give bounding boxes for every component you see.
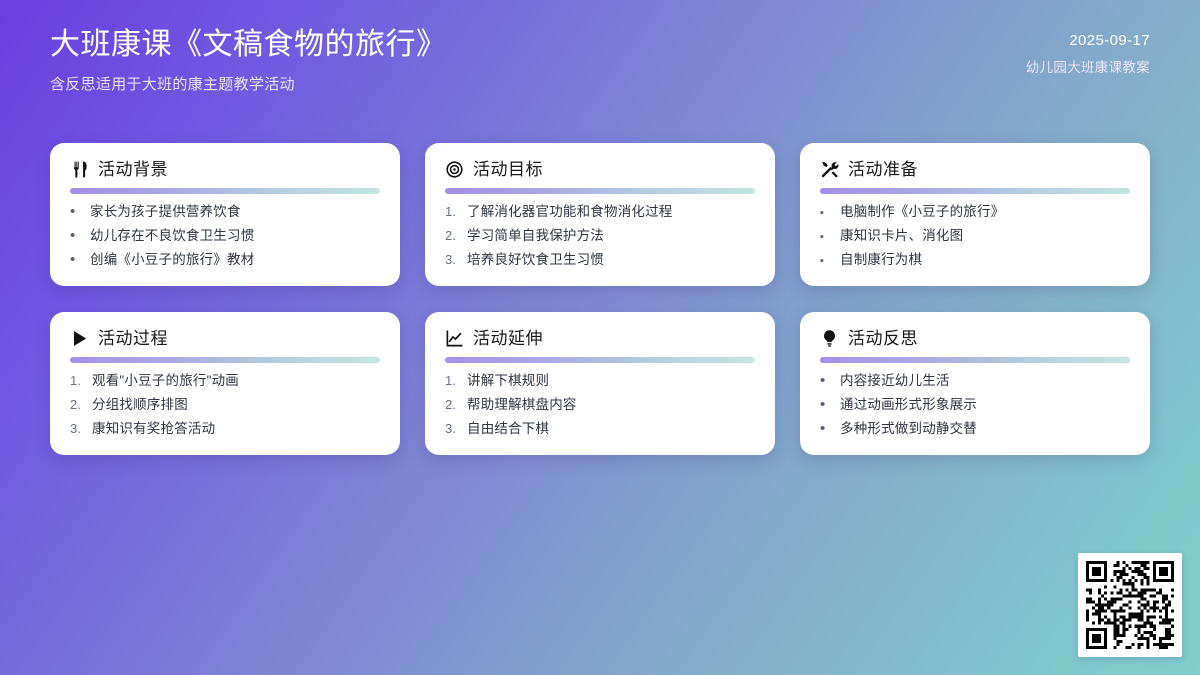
list-item: 1.观看"小豆子的旅行"动画 — [70, 372, 380, 390]
list-item-text: 创编《小豆子的旅行》教材 — [90, 251, 380, 269]
list-item-text: 家长为孩子提供营养饮食 — [90, 203, 380, 221]
date-label: 2025-09-17 — [1026, 32, 1150, 49]
card-title: 活动过程 — [98, 330, 168, 347]
card-header: 活动过程 — [70, 329, 380, 348]
list-item: 3.自由结合下棋 — [445, 420, 755, 438]
qr-code[interactable] — [1078, 553, 1182, 657]
card-item-list: ▪电脑制作《小豆子的旅行》▪康知识卡片、消化图▪自制康行为棋 — [820, 203, 1130, 270]
list-item-marker: • — [820, 421, 833, 436]
list-item-marker: 1. — [70, 372, 85, 390]
list-item-marker: ▪ — [820, 232, 833, 243]
list-item-text: 康知识有奖抢答活动 — [92, 420, 380, 438]
list-item: 1.了解消化器官功能和食物消化过程 — [445, 203, 755, 221]
list-item-marker: ▪ — [820, 208, 833, 219]
list-item-marker: 2. — [445, 227, 460, 245]
list-item: •多种形式做到动静交替 — [820, 420, 1130, 438]
target-icon — [445, 160, 464, 179]
list-item-marker: 1. — [445, 203, 460, 221]
card-item-list: 1.讲解下棋规则2.帮助理解棋盘内容3.自由结合下棋 — [445, 372, 755, 439]
card-header: 活动准备 — [820, 160, 1130, 179]
list-item: 2.帮助理解棋盘内容 — [445, 396, 755, 414]
list-item-text: 内容接近幼儿生活 — [840, 372, 1130, 390]
card-title: 活动背景 — [98, 161, 168, 178]
list-item-text: 自制康行为棋 — [840, 251, 1130, 269]
list-item-text: 分组找顺序排图 — [92, 396, 380, 414]
list-item: 3.培养良好饮食卫生习惯 — [445, 251, 755, 269]
list-item-text: 培养良好饮食卫生习惯 — [467, 251, 755, 269]
page-subtitle: 含反思适用于大班的康主题教学活动 — [50, 73, 447, 94]
list-item: ▪电脑制作《小豆子的旅行》 — [820, 203, 1130, 221]
header-text-block: 大班康课《文稿食物的旅行》 含反思适用于大班的康主题教学活动 — [50, 26, 447, 94]
list-item-marker: • — [70, 204, 83, 219]
list-item: •幼儿存在不良饮食卫生习惯 — [70, 227, 380, 245]
activity-card: 活动背景•家长为孩子提供营养饮食•幼儿存在不良饮食卫生习惯•创编《小豆子的旅行》… — [50, 143, 400, 286]
card-header: 活动延伸 — [445, 329, 755, 348]
list-item-text: 康知识卡片、消化图 — [840, 227, 1130, 245]
card-divider — [445, 188, 755, 194]
list-item: •通过动画形式形象展示 — [820, 396, 1130, 414]
card-grid: 活动背景•家长为孩子提供营养饮食•幼儿存在不良饮食卫生习惯•创编《小豆子的旅行》… — [50, 143, 1150, 455]
page-header: 大班康课《文稿食物的旅行》 含反思适用于大班的康主题教学活动 2025-09-1… — [0, 0, 1200, 128]
header-meta-block: 2025-09-17 幼儿园大班康课教案 — [1026, 26, 1150, 76]
qr-code-image — [1086, 561, 1174, 649]
list-item: 3.康知识有奖抢答活动 — [70, 420, 380, 438]
list-item-text: 帮助理解棋盘内容 — [467, 396, 755, 414]
hammer-and-wrench-icon — [820, 160, 839, 179]
activity-card: 活动目标1.了解消化器官功能和食物消化过程2.学习简单自我保护方法3.培养良好饮… — [425, 143, 775, 286]
list-item-text: 自由结合下棋 — [467, 420, 755, 438]
fork-and-knife-icon — [70, 160, 89, 179]
list-item-marker: 3. — [70, 420, 85, 438]
document-kind-label: 幼儿园大班康课教案 — [1026, 56, 1150, 76]
activity-card: 活动过程1.观看"小豆子的旅行"动画2.分组找顺序排图3.康知识有奖抢答活动 — [50, 312, 400, 455]
list-item-text: 幼儿存在不良饮食卫生习惯 — [90, 227, 380, 245]
card-title: 活动反思 — [848, 330, 918, 347]
list-item-text: 了解消化器官功能和食物消化过程 — [467, 203, 755, 221]
list-item-text: 电脑制作《小豆子的旅行》 — [840, 203, 1130, 221]
list-item: •创编《小豆子的旅行》教材 — [70, 251, 380, 269]
card-divider — [820, 357, 1130, 363]
card-divider — [70, 188, 380, 194]
list-item-marker: ▪ — [820, 256, 833, 267]
list-item-text: 学习简单自我保护方法 — [467, 227, 755, 245]
list-item: 1.讲解下棋规则 — [445, 372, 755, 390]
list-item-text: 观看"小豆子的旅行"动画 — [92, 372, 380, 390]
list-item-marker: 3. — [445, 420, 460, 438]
lightbulb-icon — [820, 329, 839, 348]
list-item-marker: 2. — [445, 396, 460, 414]
card-title: 活动延伸 — [473, 330, 543, 347]
card-item-list: 1.了解消化器官功能和食物消化过程2.学习简单自我保护方法3.培养良好饮食卫生习… — [445, 203, 755, 270]
chart-increasing-icon — [445, 329, 464, 348]
list-item: 2.学习简单自我保护方法 — [445, 227, 755, 245]
list-item-marker: 2. — [70, 396, 85, 414]
card-item-list: •内容接近幼儿生活•通过动画形式形象展示•多种形式做到动静交替 — [820, 372, 1130, 439]
list-item: ▪自制康行为棋 — [820, 251, 1130, 269]
list-item-text: 讲解下棋规则 — [467, 372, 755, 390]
card-item-list: •家长为孩子提供营养饮食•幼儿存在不良饮食卫生习惯•创编《小豆子的旅行》教材 — [70, 203, 380, 270]
list-item-marker: • — [70, 228, 83, 243]
list-item-text: 通过动画形式形象展示 — [840, 396, 1130, 414]
activity-card: 活动反思•内容接近幼儿生活•通过动画形式形象展示•多种形式做到动静交替 — [800, 312, 1150, 455]
play-triangle-icon — [70, 329, 89, 348]
card-divider — [70, 357, 380, 363]
card-item-list: 1.观看"小豆子的旅行"动画2.分组找顺序排图3.康知识有奖抢答活动 — [70, 372, 380, 439]
list-item: 2.分组找顺序排图 — [70, 396, 380, 414]
list-item: ▪康知识卡片、消化图 — [820, 227, 1130, 245]
card-divider — [445, 357, 755, 363]
card-divider — [820, 188, 1130, 194]
card-header: 活动反思 — [820, 329, 1130, 348]
list-item-marker: • — [820, 397, 833, 412]
card-header: 活动背景 — [70, 160, 380, 179]
list-item: •家长为孩子提供营养饮食 — [70, 203, 380, 221]
list-item-marker: • — [70, 252, 83, 267]
card-header: 活动目标 — [445, 160, 755, 179]
list-item: •内容接近幼儿生活 — [820, 372, 1130, 390]
card-title: 活动准备 — [848, 161, 918, 178]
list-item-marker: 3. — [445, 251, 460, 269]
activity-card: 活动准备▪电脑制作《小豆子的旅行》▪康知识卡片、消化图▪自制康行为棋 — [800, 143, 1150, 286]
page-title: 大班康课《文稿食物的旅行》 — [50, 26, 447, 64]
list-item-marker: • — [820, 373, 833, 388]
activity-card: 活动延伸1.讲解下棋规则2.帮助理解棋盘内容3.自由结合下棋 — [425, 312, 775, 455]
card-title: 活动目标 — [473, 161, 543, 178]
list-item-text: 多种形式做到动静交替 — [840, 420, 1130, 438]
list-item-marker: 1. — [445, 372, 460, 390]
